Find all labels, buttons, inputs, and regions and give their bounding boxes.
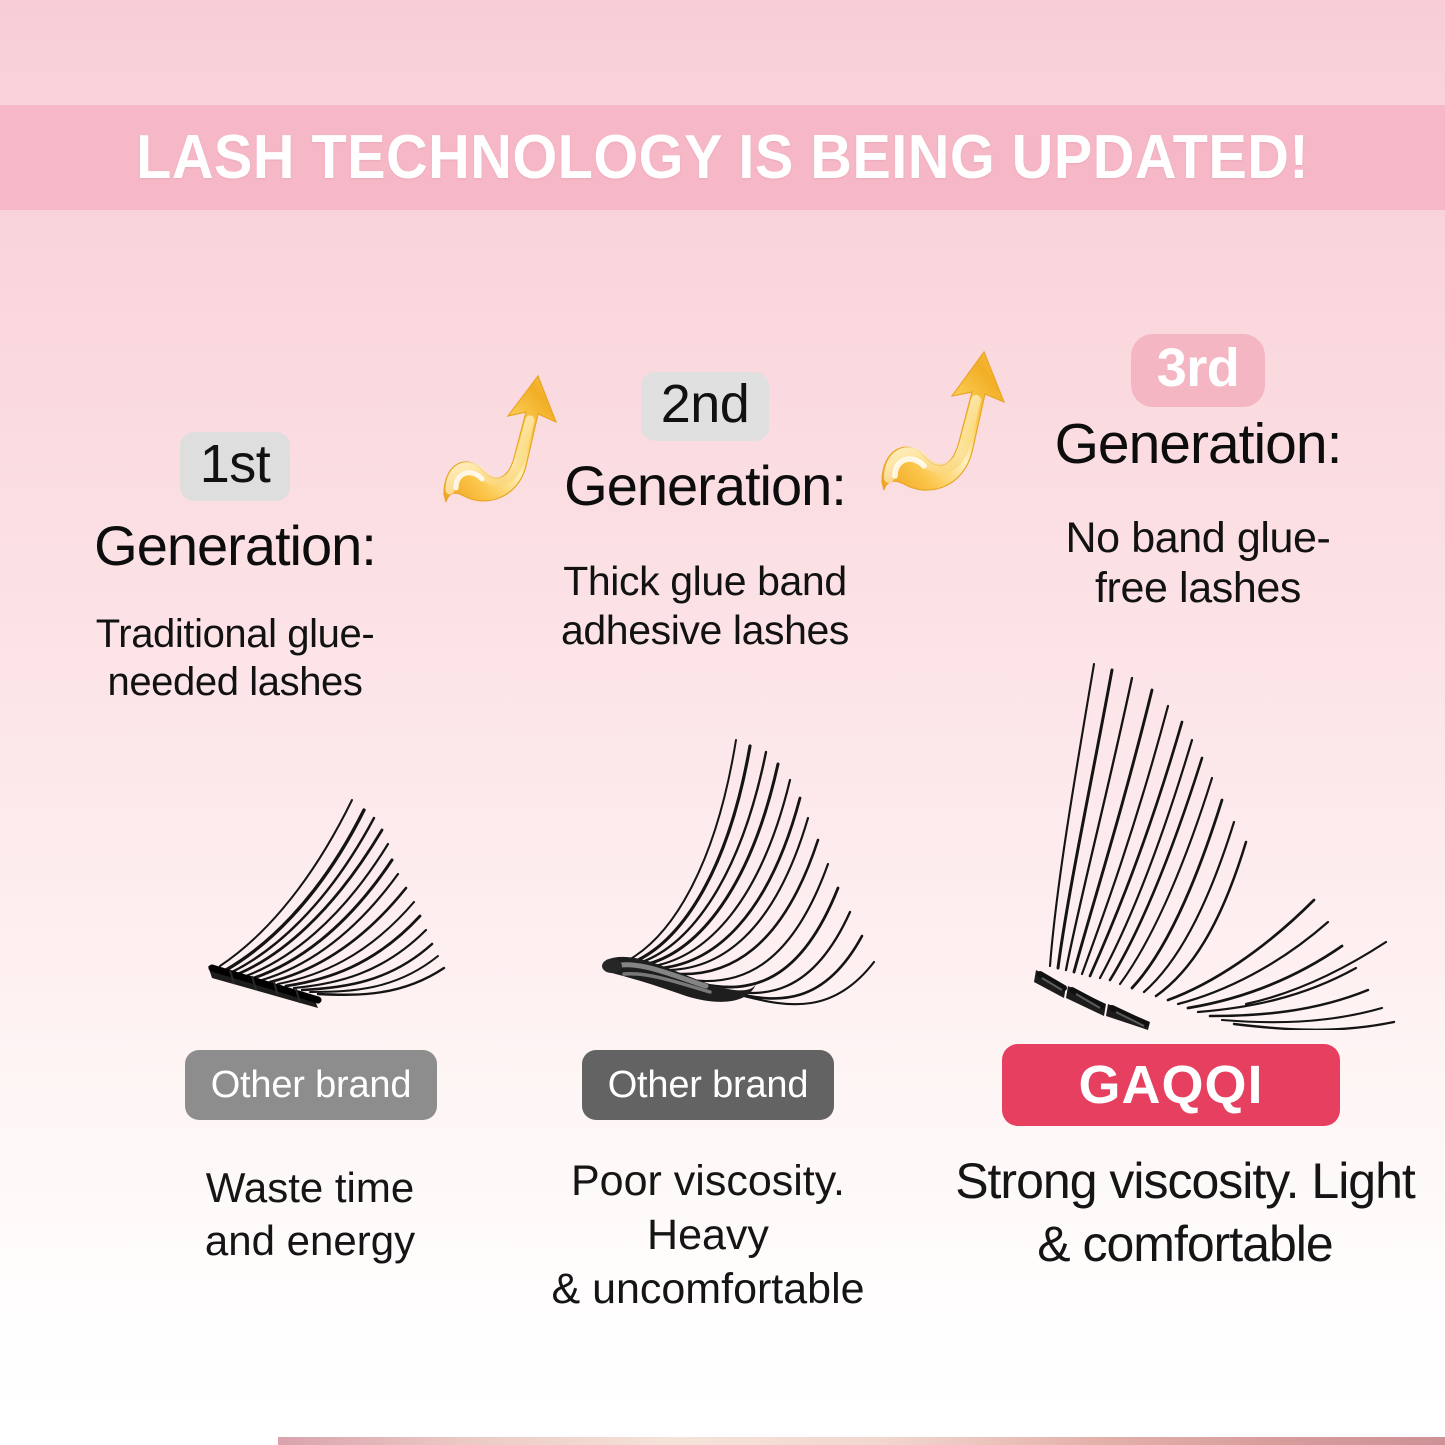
header-banner: LASH TECHNOLOGY IS BEING UPDATED! — [0, 105, 1445, 210]
generation-2-badge: 2nd — [641, 372, 770, 441]
generation-1-caption: Waste time and energy — [150, 1162, 470, 1267]
brand-badge-gaqqi: GAQQI — [1002, 1044, 1340, 1126]
banner-title: LASH TECHNOLOGY IS BEING UPDATED! — [136, 122, 1309, 193]
generation-3-title: Generation: — [948, 415, 1445, 475]
generation-3-caption: Strong viscosity. Light & comfortable — [930, 1150, 1440, 1275]
generation-3-column: 3rd Generation: No band glue- free lashe… — [948, 334, 1445, 614]
generation-2-caption: Poor viscosity. Heavy & uncomfortable — [508, 1155, 908, 1316]
brand-badge-other-2: Other brand — [582, 1050, 834, 1120]
brand-badge-other-1: Other brand — [185, 1050, 437, 1120]
generation-2-description: Thick glue band adhesive lashes — [480, 557, 930, 654]
generation-1-title: Generation: — [0, 517, 470, 576]
lash-cluster-bandless-icon — [1006, 650, 1418, 1030]
lash-cluster-thin-band-icon — [168, 752, 468, 1014]
generation-3-description: No band glue- free lashes — [948, 513, 1445, 614]
generation-2-title: Generation: — [480, 457, 930, 516]
poster-canvas: LASH TECHNOLOGY IS BEING UPDATED! — [0, 0, 1445, 1445]
generation-1-badge: 1st — [180, 432, 291, 501]
generation-3-badge: 3rd — [1131, 334, 1266, 407]
lash-cluster-thick-glue-band-icon — [578, 722, 888, 1014]
generation-1-description: Traditional glue- needed lashes — [0, 611, 470, 705]
generation-2-column: 2nd Generation: Thick glue band adhesive… — [480, 372, 930, 654]
generation-1-column: 1st Generation: Traditional glue- needed… — [0, 432, 470, 706]
next-image-sliver — [278, 1437, 1445, 1445]
